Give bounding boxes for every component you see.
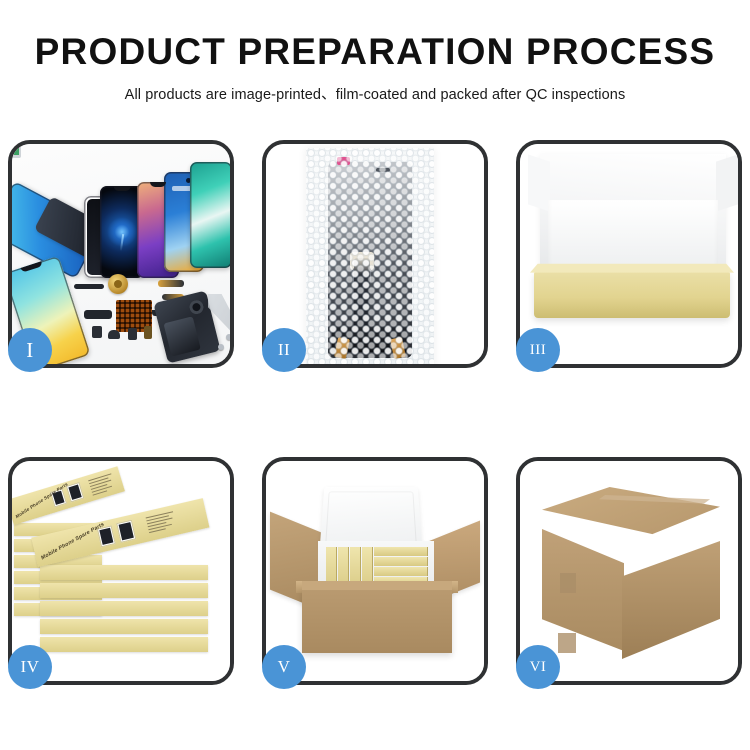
small-part-1 <box>92 326 102 338</box>
process-steps-grid: I II <box>8 140 742 685</box>
packed-box-5 <box>374 547 428 556</box>
carton-right-face <box>622 541 720 659</box>
packing-tape-lower <box>558 633 576 653</box>
bubble-wrap-bag <box>306 148 434 364</box>
connector-part <box>84 310 112 319</box>
step-panel-5: V <box>262 457 488 685</box>
teal-wave-phone <box>190 162 230 268</box>
sim-tray-part <box>12 144 21 158</box>
stack-box-r3 <box>40 601 208 616</box>
step-badge-2: II <box>262 328 306 372</box>
step-badge-4: IV <box>8 645 52 689</box>
yellow-box-tray <box>534 272 730 318</box>
button-flex-part <box>158 280 184 287</box>
step-panel-2: II <box>262 140 488 368</box>
step-panel-4: Mobile Phone Spare Parts <box>8 457 234 685</box>
carton-front-panel <box>302 589 452 653</box>
screw-2 <box>226 334 230 340</box>
step-panel-6: VI <box>516 457 742 685</box>
step-badge-1: I <box>8 328 52 372</box>
step-2-image <box>266 144 484 364</box>
small-part-2 <box>108 330 120 339</box>
product-preparation-infographic: PRODUCT PREPARATION PROCESS All products… <box>0 0 750 750</box>
screw-1 <box>218 344 224 350</box>
packed-box-7 <box>374 567 428 576</box>
step-4-image: Mobile Phone Spare Parts <box>12 461 230 681</box>
bubble-texture-overlay <box>306 148 434 364</box>
stack-box-r5 <box>40 637 208 652</box>
step-badge-5: V <box>262 645 306 689</box>
packing-tape-upper <box>560 573 576 593</box>
stack-box-r2 <box>40 583 208 598</box>
stack-box-top-left: Mobile Phone Spare Parts <box>12 466 125 525</box>
step-badge-3: III <box>516 328 560 372</box>
small-part-4 <box>144 326 152 339</box>
step-badge-6: VI <box>516 645 560 689</box>
small-part-3 <box>128 328 137 340</box>
stack-box-r1 <box>40 565 208 580</box>
speaker-module-part <box>108 274 128 294</box>
packed-box-6 <box>374 557 428 566</box>
header: PRODUCT PREPARATION PROCESS All products… <box>0 0 750 104</box>
stack-box-r4 <box>40 619 208 634</box>
page-title: PRODUCT PREPARATION PROCESS <box>0 33 750 72</box>
box-stack: Mobile Phone Spare Parts <box>12 461 230 681</box>
flex-cable-part <box>74 284 104 289</box>
step-6-image <box>520 461 738 681</box>
step-panel-3: III <box>516 140 742 368</box>
step-5-image <box>266 461 484 681</box>
step-3-image <box>520 144 738 364</box>
step-1-image <box>12 144 230 364</box>
carton-left-face <box>542 529 624 651</box>
step-panel-1: I <box>8 140 234 368</box>
page-subtitle: All products are image-printed、film-coat… <box>0 83 750 104</box>
